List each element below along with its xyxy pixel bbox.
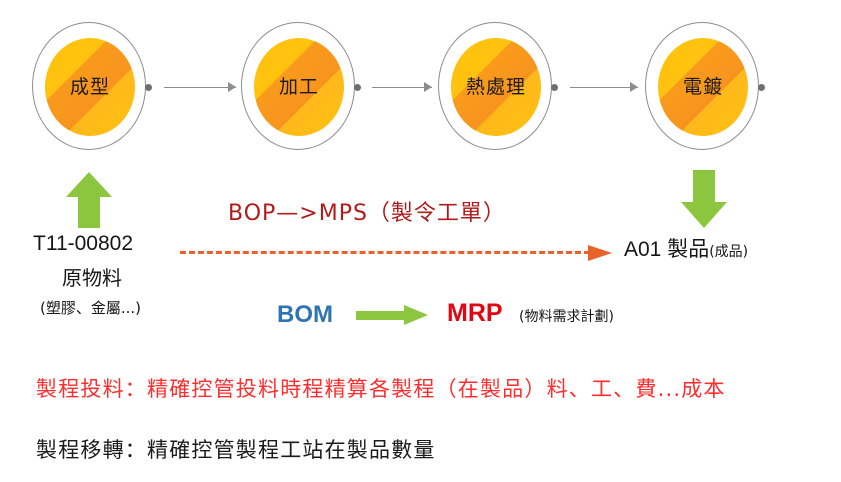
node-anchor-dot [551, 84, 558, 91]
process-node-label: 電鍍 [645, 74, 761, 100]
product-output-arrow-down-icon [681, 170, 727, 228]
connector-arrowhead [228, 82, 236, 92]
connector-line [372, 87, 432, 88]
raw-material-name: 原物料 [62, 262, 122, 291]
raw-material-code: T11-00802 [33, 232, 133, 256]
mrp-label: MRP [447, 299, 503, 328]
arrow-head [404, 305, 428, 325]
connector-arrow-1-icon [164, 82, 236, 93]
process-node-label: 熱處理 [438, 74, 554, 100]
statement-process-feeding: 製程投料：精確控管投料時程精算各製程（在製品）料、工、費...成本 [36, 373, 726, 403]
connector-line [164, 87, 236, 88]
product-code-suffix: (成品) [709, 244, 748, 260]
statement-process-transfer: 製程移轉：精確控管製程工站在製品數量 [36, 434, 436, 464]
material-input-arrow-up-icon [66, 172, 112, 228]
process-node-label: 成型 [32, 74, 148, 100]
process-node-electroplating[interactable]: 電鍍 [645, 22, 761, 152]
connector-arrow-2-icon [372, 82, 432, 93]
connector-line [570, 87, 638, 88]
dashed-arrowhead [588, 245, 612, 261]
arrow-shaft [356, 311, 406, 320]
mrp-note: (物料需求計劃) [519, 306, 614, 326]
process-node-heat-treatment[interactable]: 熱處理 [438, 22, 554, 152]
connector-arrowhead [630, 82, 638, 92]
connector-arrowhead [424, 82, 432, 92]
product-code-label: A01 製品(成品) [624, 233, 748, 263]
node-anchor-dot [145, 84, 152, 91]
process-node-machining[interactable]: 加工 [241, 22, 357, 152]
node-anchor-dot [758, 84, 765, 91]
connector-arrow-3-icon [570, 82, 638, 93]
process-node-forming[interactable]: 成型 [32, 22, 148, 152]
node-anchor-dot [354, 84, 361, 91]
bom-to-mrp-arrow-icon [356, 305, 429, 326]
bop-mps-annotation: BOP—>MPS（製令工單） [228, 195, 506, 227]
product-code-main: A01 製品 [624, 238, 709, 261]
material-to-product-dashed-arrow-icon [180, 245, 612, 261]
raw-material-detail: (塑膠、金屬...) [40, 297, 141, 318]
bom-label: BOM [277, 301, 333, 329]
process-node-label: 加工 [241, 74, 357, 100]
process-flow-diagram: 成型 加工 熱處理 電鍍 [0, 0, 841, 482]
dashed-line [180, 251, 590, 254]
